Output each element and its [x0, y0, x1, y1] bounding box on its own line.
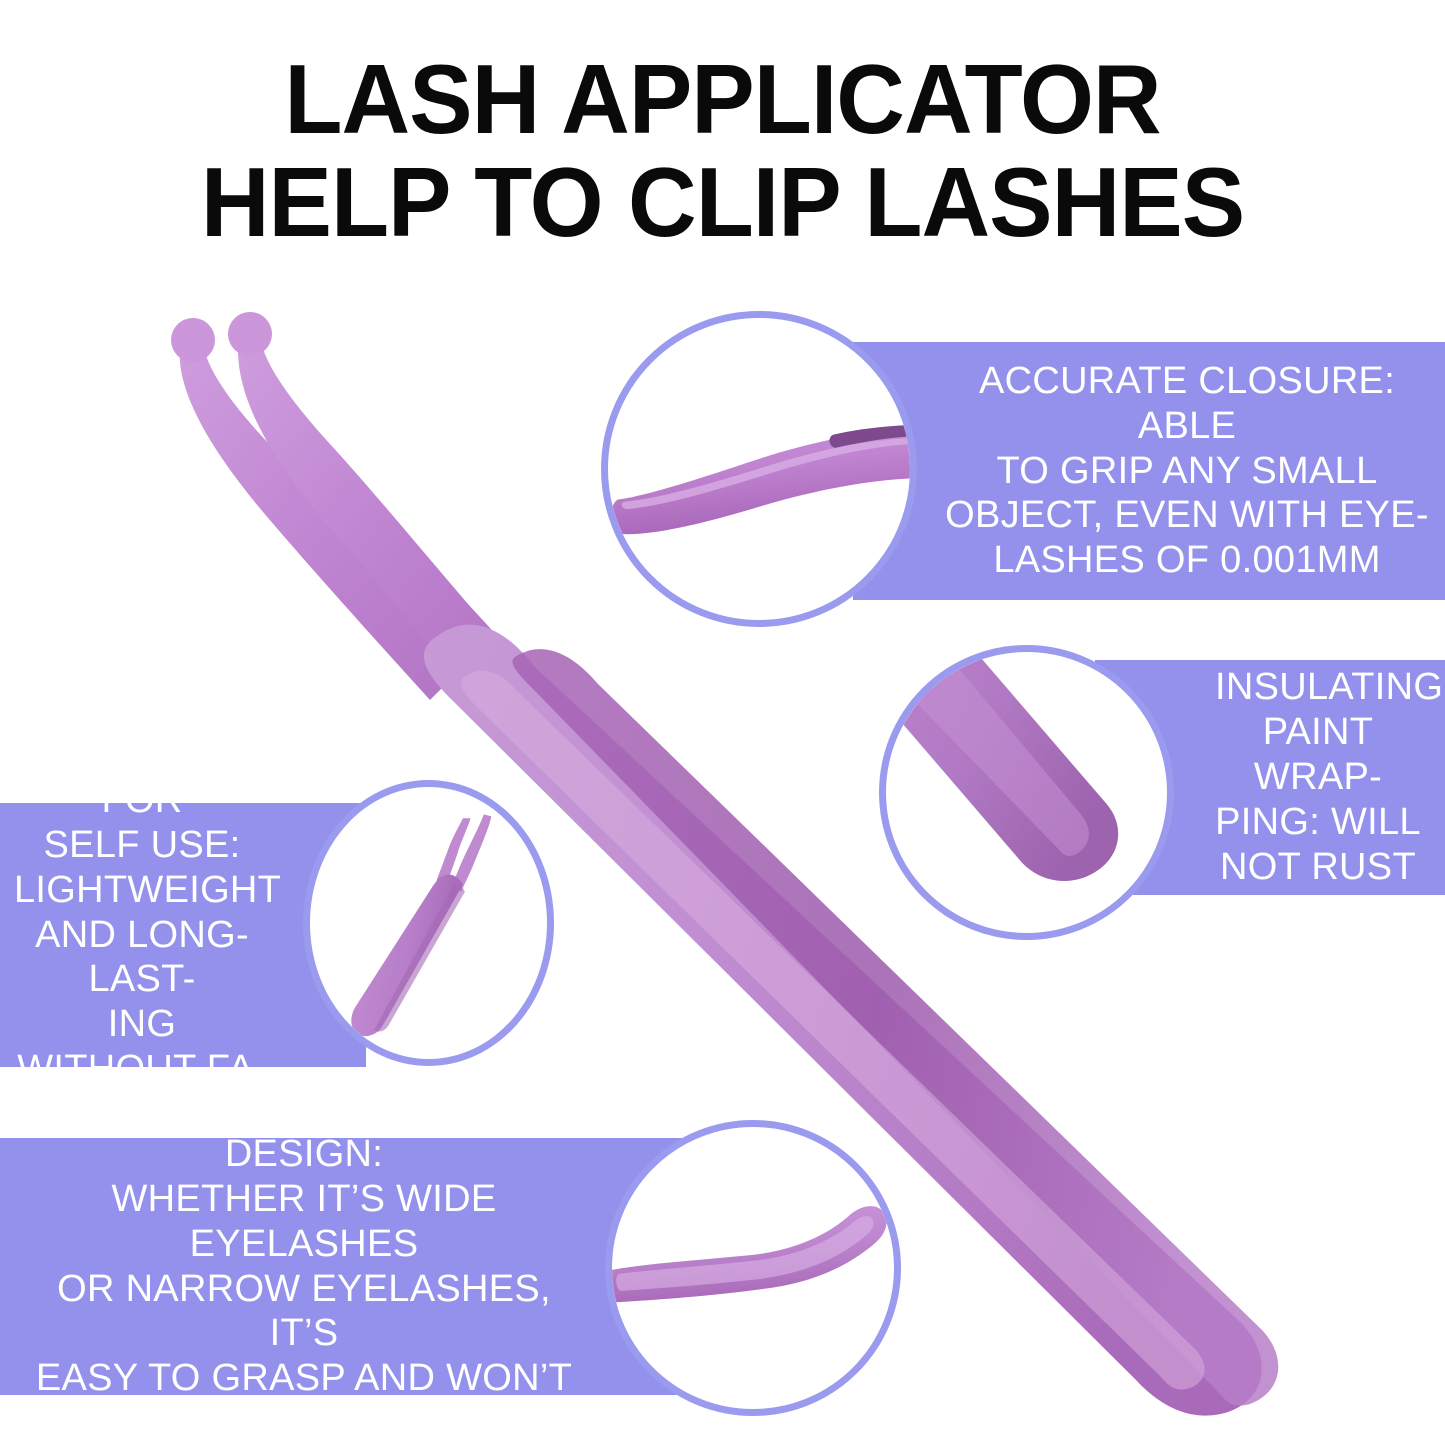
- feature-text-accurate-closure: ACCURATE CLOSURE: ABLE TO GRIP ANY SMALL…: [945, 359, 1429, 583]
- tweezer-arm-rear: [180, 330, 470, 700]
- inset-angled-tip-image: [612, 1127, 894, 1409]
- inset-circle-angled-tip: [605, 1120, 901, 1416]
- inset-circle-handle-end: [879, 645, 1174, 940]
- feature-text-tweezer-top-design: SPECIAL TWEEZER TOP DESIGN: WHETHER IT’S…: [20, 1087, 588, 1445]
- page-title: LASH APPLICATOR HELP TO CLIP LASHES: [22, 48, 1424, 254]
- product-infographic: LASH APPLICATOR HELP TO CLIP LASHES ACCU…: [0, 0, 1445, 1445]
- inset-whole-image: [310, 787, 547, 1059]
- title-line-2: HELP TO CLIP LASHES: [22, 151, 1424, 254]
- handle-secondary-edge: [886, 898, 928, 933]
- title-line-1: LASH APPLICATOR: [22, 48, 1424, 151]
- inset-circle-whole-tweezer: [303, 780, 554, 1066]
- inset-circle-tweezer-tip: [601, 311, 917, 627]
- feature-banner-accurate-closure: ACCURATE CLOSURE: ABLE TO GRIP ANY SMALL…: [853, 342, 1445, 600]
- feature-banner-tweezer-top-design: SPECIAL TWEEZER TOP DESIGN: WHETHER IT’S…: [0, 1138, 700, 1395]
- tweezer-arm-front: [238, 324, 512, 694]
- feature-text-insulating-paint: INSULATING PAINT WRAP- PING: WILL NOT RU…: [1215, 665, 1421, 889]
- inset-handle-image: [886, 652, 1167, 933]
- inset-tip-image: [608, 318, 910, 620]
- tweezer-tip-rear: [171, 318, 215, 362]
- feature-text-self-use: PERFECT FOR SELF USE: LIGHTWEIGHT AND LO…: [14, 733, 270, 1136]
- tweezer-tip-front: [228, 312, 272, 356]
